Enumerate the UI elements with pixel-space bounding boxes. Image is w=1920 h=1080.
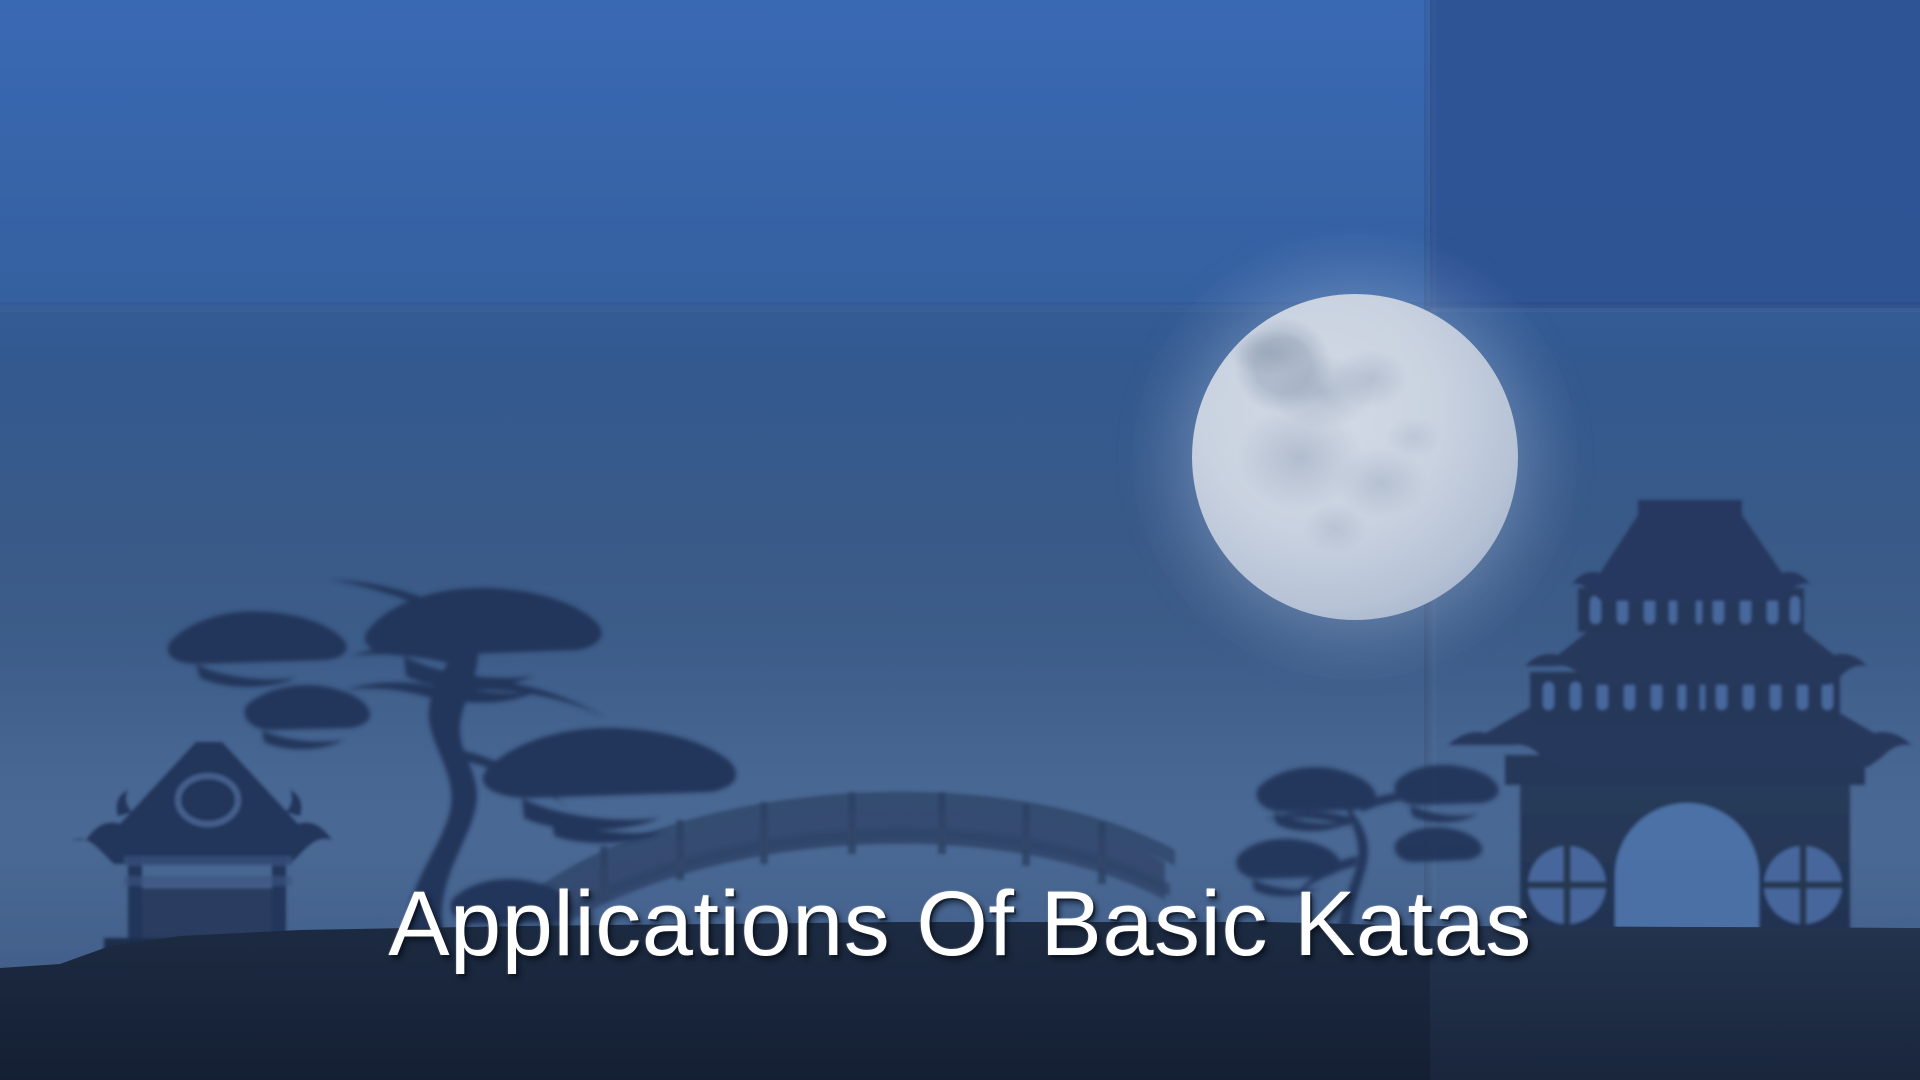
slide-canvas: Applications Of Basic Katas [0, 0, 1920, 1080]
page-title: Applications Of Basic Katas [0, 876, 1920, 972]
